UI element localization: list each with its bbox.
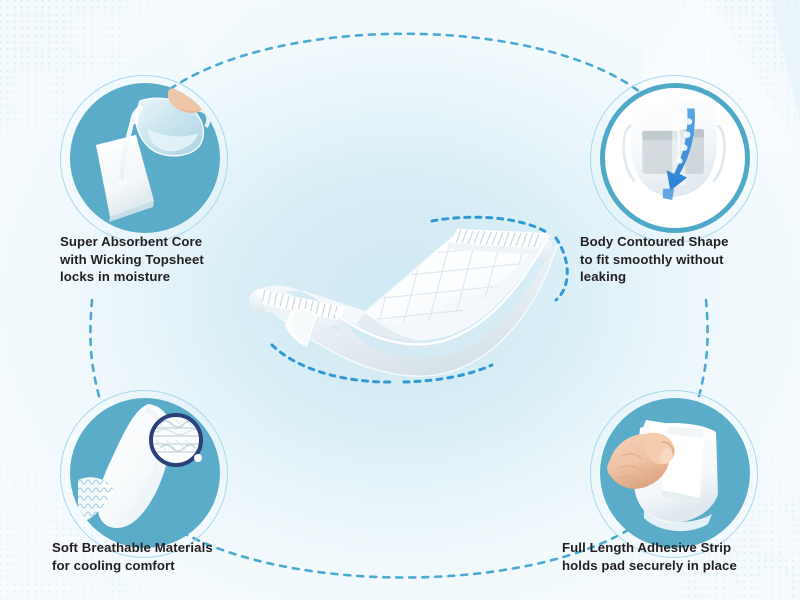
peeling-adhesive-strip-photo xyxy=(600,398,750,548)
feature-label-soft-breathable-materials: Soft Breathable Materials for cooling co… xyxy=(52,539,292,574)
feature-body-contoured-shape[interactable] xyxy=(590,75,760,245)
feature-label-super-absorbent-core: Super Absorbent Core with Wicking Topshe… xyxy=(60,233,275,286)
infographic-canvas: Super Absorbent Core with Wicking Topshe… xyxy=(0,0,800,600)
contoured-brief-with-flow-arrow-photo xyxy=(600,83,750,233)
feature-soft-breathable-materials[interactable] xyxy=(60,390,230,560)
breathable-backsheet-magnifier-photo xyxy=(70,398,220,548)
feature-full-length-adhesive-strip[interactable] xyxy=(590,390,760,560)
feature-label-body-contoured-shape: Body Contoured Shape to fit smoothly wit… xyxy=(580,233,795,286)
pouring-water-on-pad-photo xyxy=(70,83,220,233)
feature-label-full-length-adhesive-strip: Full Length Adhesive Strip holds pad sec… xyxy=(562,539,800,574)
incontinence-pad-product xyxy=(245,195,575,395)
connector-line-right xyxy=(698,300,708,400)
connector-line-left xyxy=(90,300,100,400)
feature-super-absorbent-core[interactable] xyxy=(60,75,230,245)
